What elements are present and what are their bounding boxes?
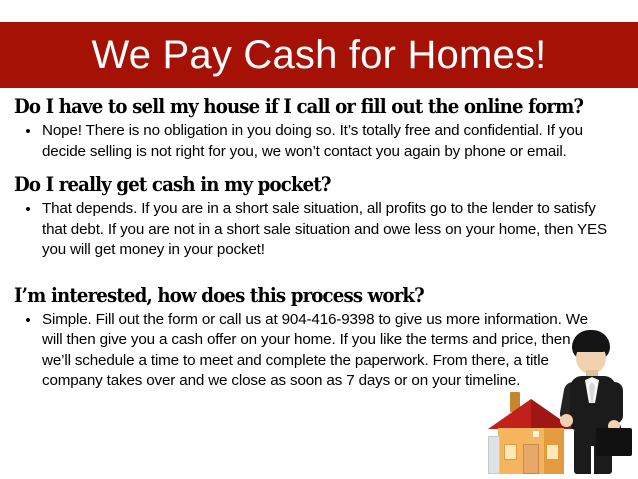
bullet-icon: •: [14, 121, 42, 142]
bullet-icon: •: [14, 199, 42, 220]
house-window-attic: [532, 430, 540, 438]
faq-question: Do I really get cash in my pocket?: [14, 174, 581, 195]
slide: We Pay Cash for Homes! Do I have to sell…: [0, 0, 638, 479]
faq-item: I’m interested, how does this process wo…: [0, 285, 638, 392]
faq-answer-row: • Nope! There is no obligation in you do…: [14, 121, 624, 162]
faq-answer: That depends. If you are in a short sale…: [42, 199, 624, 261]
businessman-leg-gap: [591, 446, 594, 474]
faq-answer-row: • Simple. Fill out the form or call us a…: [14, 310, 624, 392]
bullet-icon: •: [14, 310, 42, 331]
faq-item: Do I really get cash in my pocket? • Tha…: [0, 174, 638, 261]
briefcase-icon: [596, 428, 632, 456]
title-banner: We Pay Cash for Homes!: [0, 22, 638, 88]
faq-question: I’m interested, how does this process wo…: [14, 285, 581, 306]
faq-list: Do I have to sell my house if I call or …: [0, 96, 638, 392]
faq-answer: Simple. Fill out the form or call us at …: [42, 310, 624, 392]
house-window-left: [504, 444, 517, 460]
faq-item: Do I have to sell my house if I call or …: [0, 96, 638, 162]
faq-answer: Nope! There is no obligation in you doin…: [42, 121, 624, 162]
businessman-hair-fringe: [574, 338, 608, 352]
faq-question: Do I have to sell my house if I call or …: [14, 96, 581, 117]
house-door: [523, 444, 539, 474]
businessman-icon: [556, 330, 632, 476]
faq-answer-row: • That depends. If you are in a short sa…: [14, 199, 624, 261]
businessman-hand-left: [560, 414, 573, 427]
house-side-panel: [488, 436, 500, 474]
page-title: We Pay Cash for Homes!: [92, 35, 547, 75]
businessman-arm-right: [606, 382, 623, 424]
